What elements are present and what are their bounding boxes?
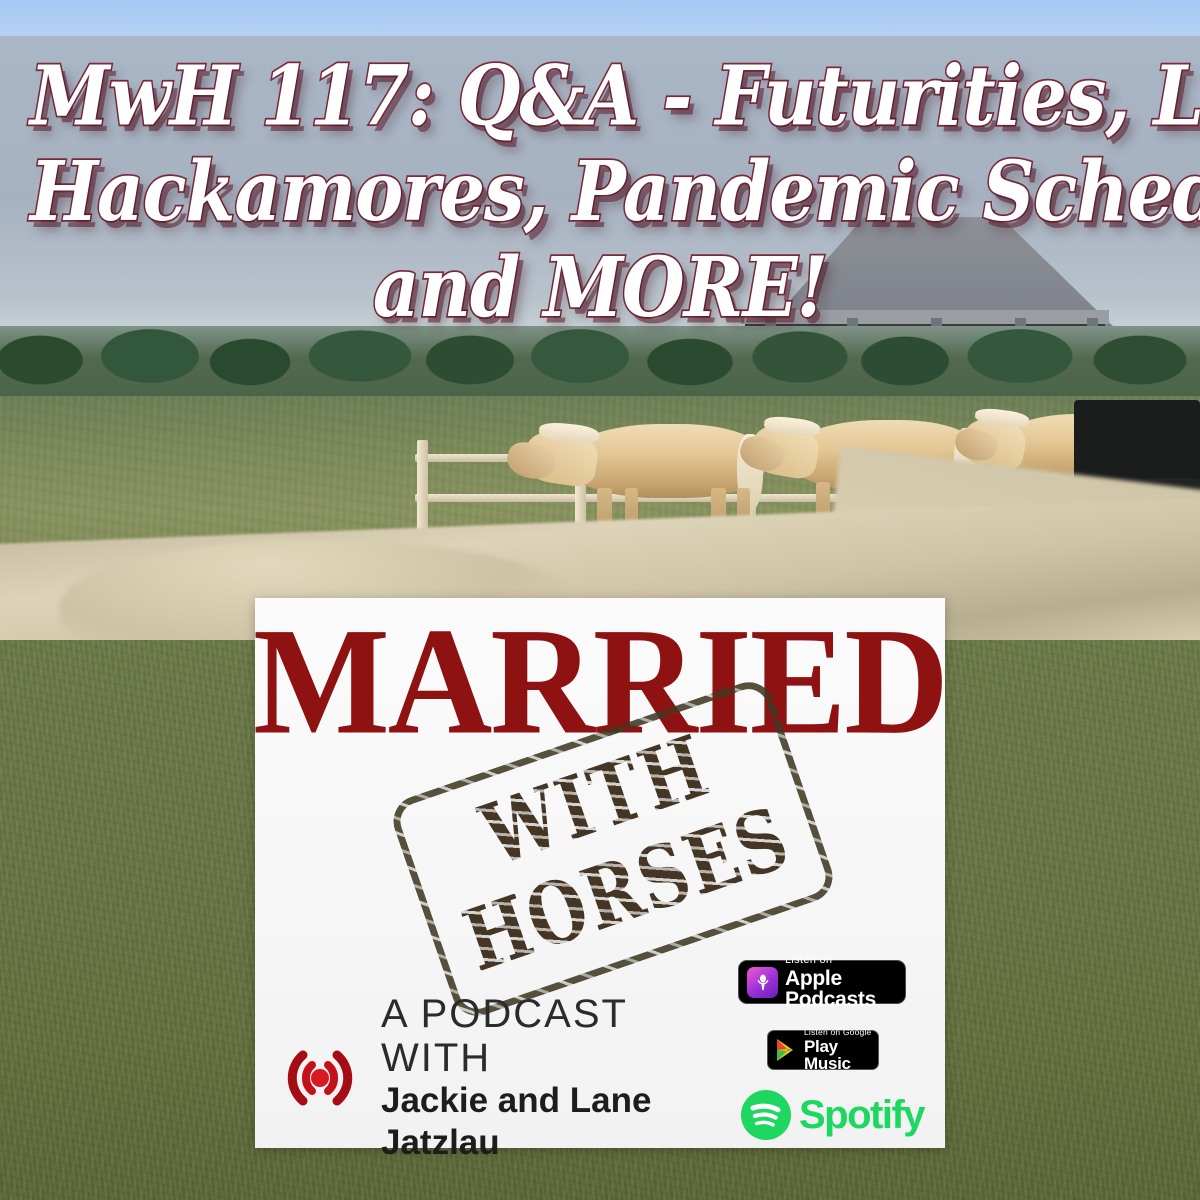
google-badge-small-text: Listen on Google <box>804 1028 873 1037</box>
podcast-cover-art: MwH 117: Q&A - Futurities, Leg Care, Hac… <box>0 0 1200 1200</box>
google-play-icon <box>773 1037 799 1063</box>
spotify-icon <box>740 1089 792 1141</box>
spotify-badge[interactable]: Spotify <box>740 1088 910 1142</box>
episode-title: MwH 117: Q&A - Futurities, Leg Care, Hac… <box>0 48 1200 335</box>
apple-podcasts-label: Listen on Apple Podcasts <box>785 955 897 1010</box>
google-play-music-badge[interactable]: Listen on Google Play Music <box>767 1030 879 1070</box>
apple-badge-small-text: Listen on <box>785 955 897 966</box>
broadcast-waves-icon <box>277 1039 363 1117</box>
spotify-wordmark: Spotify <box>799 1095 924 1135</box>
byline-line-2: Jackie and Lane Jatzlau <box>381 1080 707 1164</box>
platform-badges: Listen on Apple Podcasts Listen on Googl… <box>735 960 930 1146</box>
google-badge-large-text: Play Music <box>804 1038 873 1072</box>
google-play-label: Listen on Google Play Music <box>804 1028 873 1073</box>
treeline <box>0 326 1200 406</box>
podcast-byline: A PODCAST WITH Jackie and Lane Jatzlau <box>277 1023 707 1133</box>
episode-title-line-2: Hackamores, Pandemic Schedule, <box>30 144 1170 240</box>
apple-podcasts-badge[interactable]: Listen on Apple Podcasts <box>738 960 906 1004</box>
sky-upper <box>0 0 1200 40</box>
show-logo-card: MARRIED WITH HORSES A PODCAST WITH <box>255 598 945 1148</box>
apple-badge-large-text: Apple Podcasts <box>785 968 897 1010</box>
episode-title-line-1: MwH 117: Q&A - Futurities, Leg Care, <box>30 48 1170 144</box>
broadcast-center-dot <box>311 1069 329 1087</box>
episode-title-line-3: and MORE! <box>30 240 1170 336</box>
apple-podcasts-icon <box>747 967 778 998</box>
byline-text: A PODCAST WITH Jackie and Lane Jatzlau <box>381 992 707 1164</box>
byline-line-1: A PODCAST WITH <box>381 992 707 1080</box>
